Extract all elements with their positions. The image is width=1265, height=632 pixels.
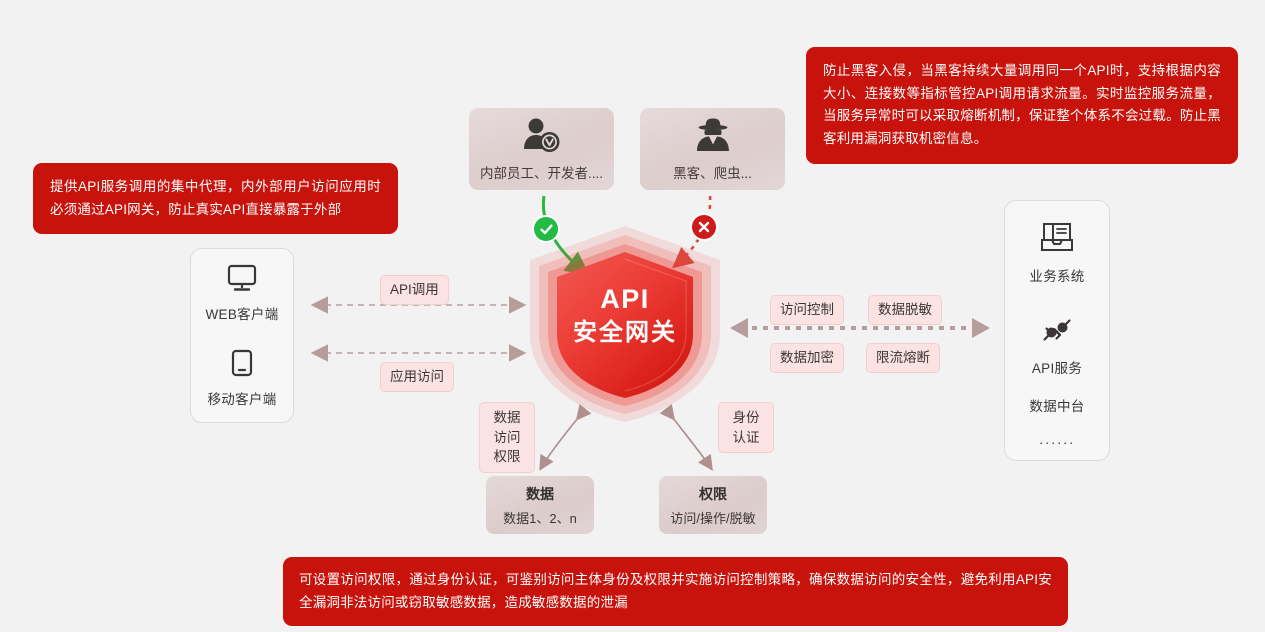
- business-more-dots: ······: [1039, 435, 1075, 450]
- callout-right: 防止黑客入侵，当黑客持续大量调用同一个API时，支持根据内容大小、连接数等指标管…: [806, 47, 1238, 164]
- business-system-label: 业务系统: [1029, 265, 1084, 285]
- client-web-label: WEB客户端: [205, 303, 278, 323]
- tag-data-access-permission[interactable]: 数据访问权限: [479, 402, 535, 473]
- edge-capabilities: [730, 318, 990, 338]
- monitor-icon: [227, 264, 257, 292]
- tag-access-control[interactable]: 访问控制: [770, 295, 844, 325]
- api-service[interactable]: API服务: [1032, 315, 1082, 377]
- actor-hacker-label: 黑客、爬虫...: [673, 162, 752, 182]
- book-archive-icon: [1040, 221, 1074, 253]
- box-data[interactable]: 数据 数据1、2、n: [486, 476, 594, 534]
- client-mobile[interactable]: 移动客户端: [208, 349, 277, 408]
- api-security-gateway-shield[interactable]: API 安全网关: [520, 222, 730, 427]
- plug-connector-icon: [1040, 315, 1074, 345]
- box-permission[interactable]: 权限 访问/操作/脱敏: [659, 476, 767, 534]
- mobile-icon: [230, 349, 254, 377]
- client-mobile-label: 移动客户端: [208, 388, 277, 408]
- tag-app-access[interactable]: 应用访问: [380, 362, 454, 392]
- actor-hacker[interactable]: 黑客、爬虫...: [640, 108, 785, 190]
- shield-shape: [520, 222, 730, 427]
- box-data-title: 数据: [526, 484, 554, 504]
- clients-panel: WEB客户端 移动客户端: [190, 248, 294, 423]
- business-system[interactable]: 业务系统: [1029, 221, 1084, 285]
- callout-left: 提供API服务调用的集中代理，内外部用户访问应用时必须通过API网关，防止真实A…: [33, 163, 398, 234]
- user-verified-icon: [521, 117, 563, 155]
- business-panel: 业务系统 API服务 数据中台 ······: [1004, 200, 1110, 461]
- tag-data-encryption[interactable]: 数据加密: [770, 343, 844, 373]
- tag-data-desensitization[interactable]: 数据脱敏: [868, 295, 942, 325]
- box-permission-title: 权限: [699, 484, 727, 504]
- client-web[interactable]: WEB客户端: [205, 264, 278, 323]
- actor-internal-label: 内部员工、开发者....: [480, 162, 603, 182]
- box-data-sub: 数据1、2、n: [503, 508, 577, 527]
- box-permission-sub: 访问/操作/脱敏: [670, 508, 755, 527]
- callout-bottom: 可设置访问权限，通过身份认证，可鉴别访问主体身份及权限并实施访问控制策略，确保数…: [283, 557, 1068, 626]
- tag-api-call[interactable]: API调用: [380, 275, 449, 305]
- tag-identity-authentication[interactable]: 身份认证: [718, 402, 774, 453]
- data-platform-label: 数据中台: [1029, 395, 1084, 415]
- tag-rate-limit-fuse[interactable]: 限流熔断: [866, 343, 940, 373]
- hacker-icon: [692, 117, 734, 155]
- api-service-label: API服务: [1032, 357, 1082, 377]
- actor-internal-user[interactable]: 内部员工、开发者....: [469, 108, 614, 190]
- diagram-canvas: 提供API服务调用的集中代理，内外部用户访问应用时必须通过API网关，防止真实A…: [0, 0, 1265, 632]
